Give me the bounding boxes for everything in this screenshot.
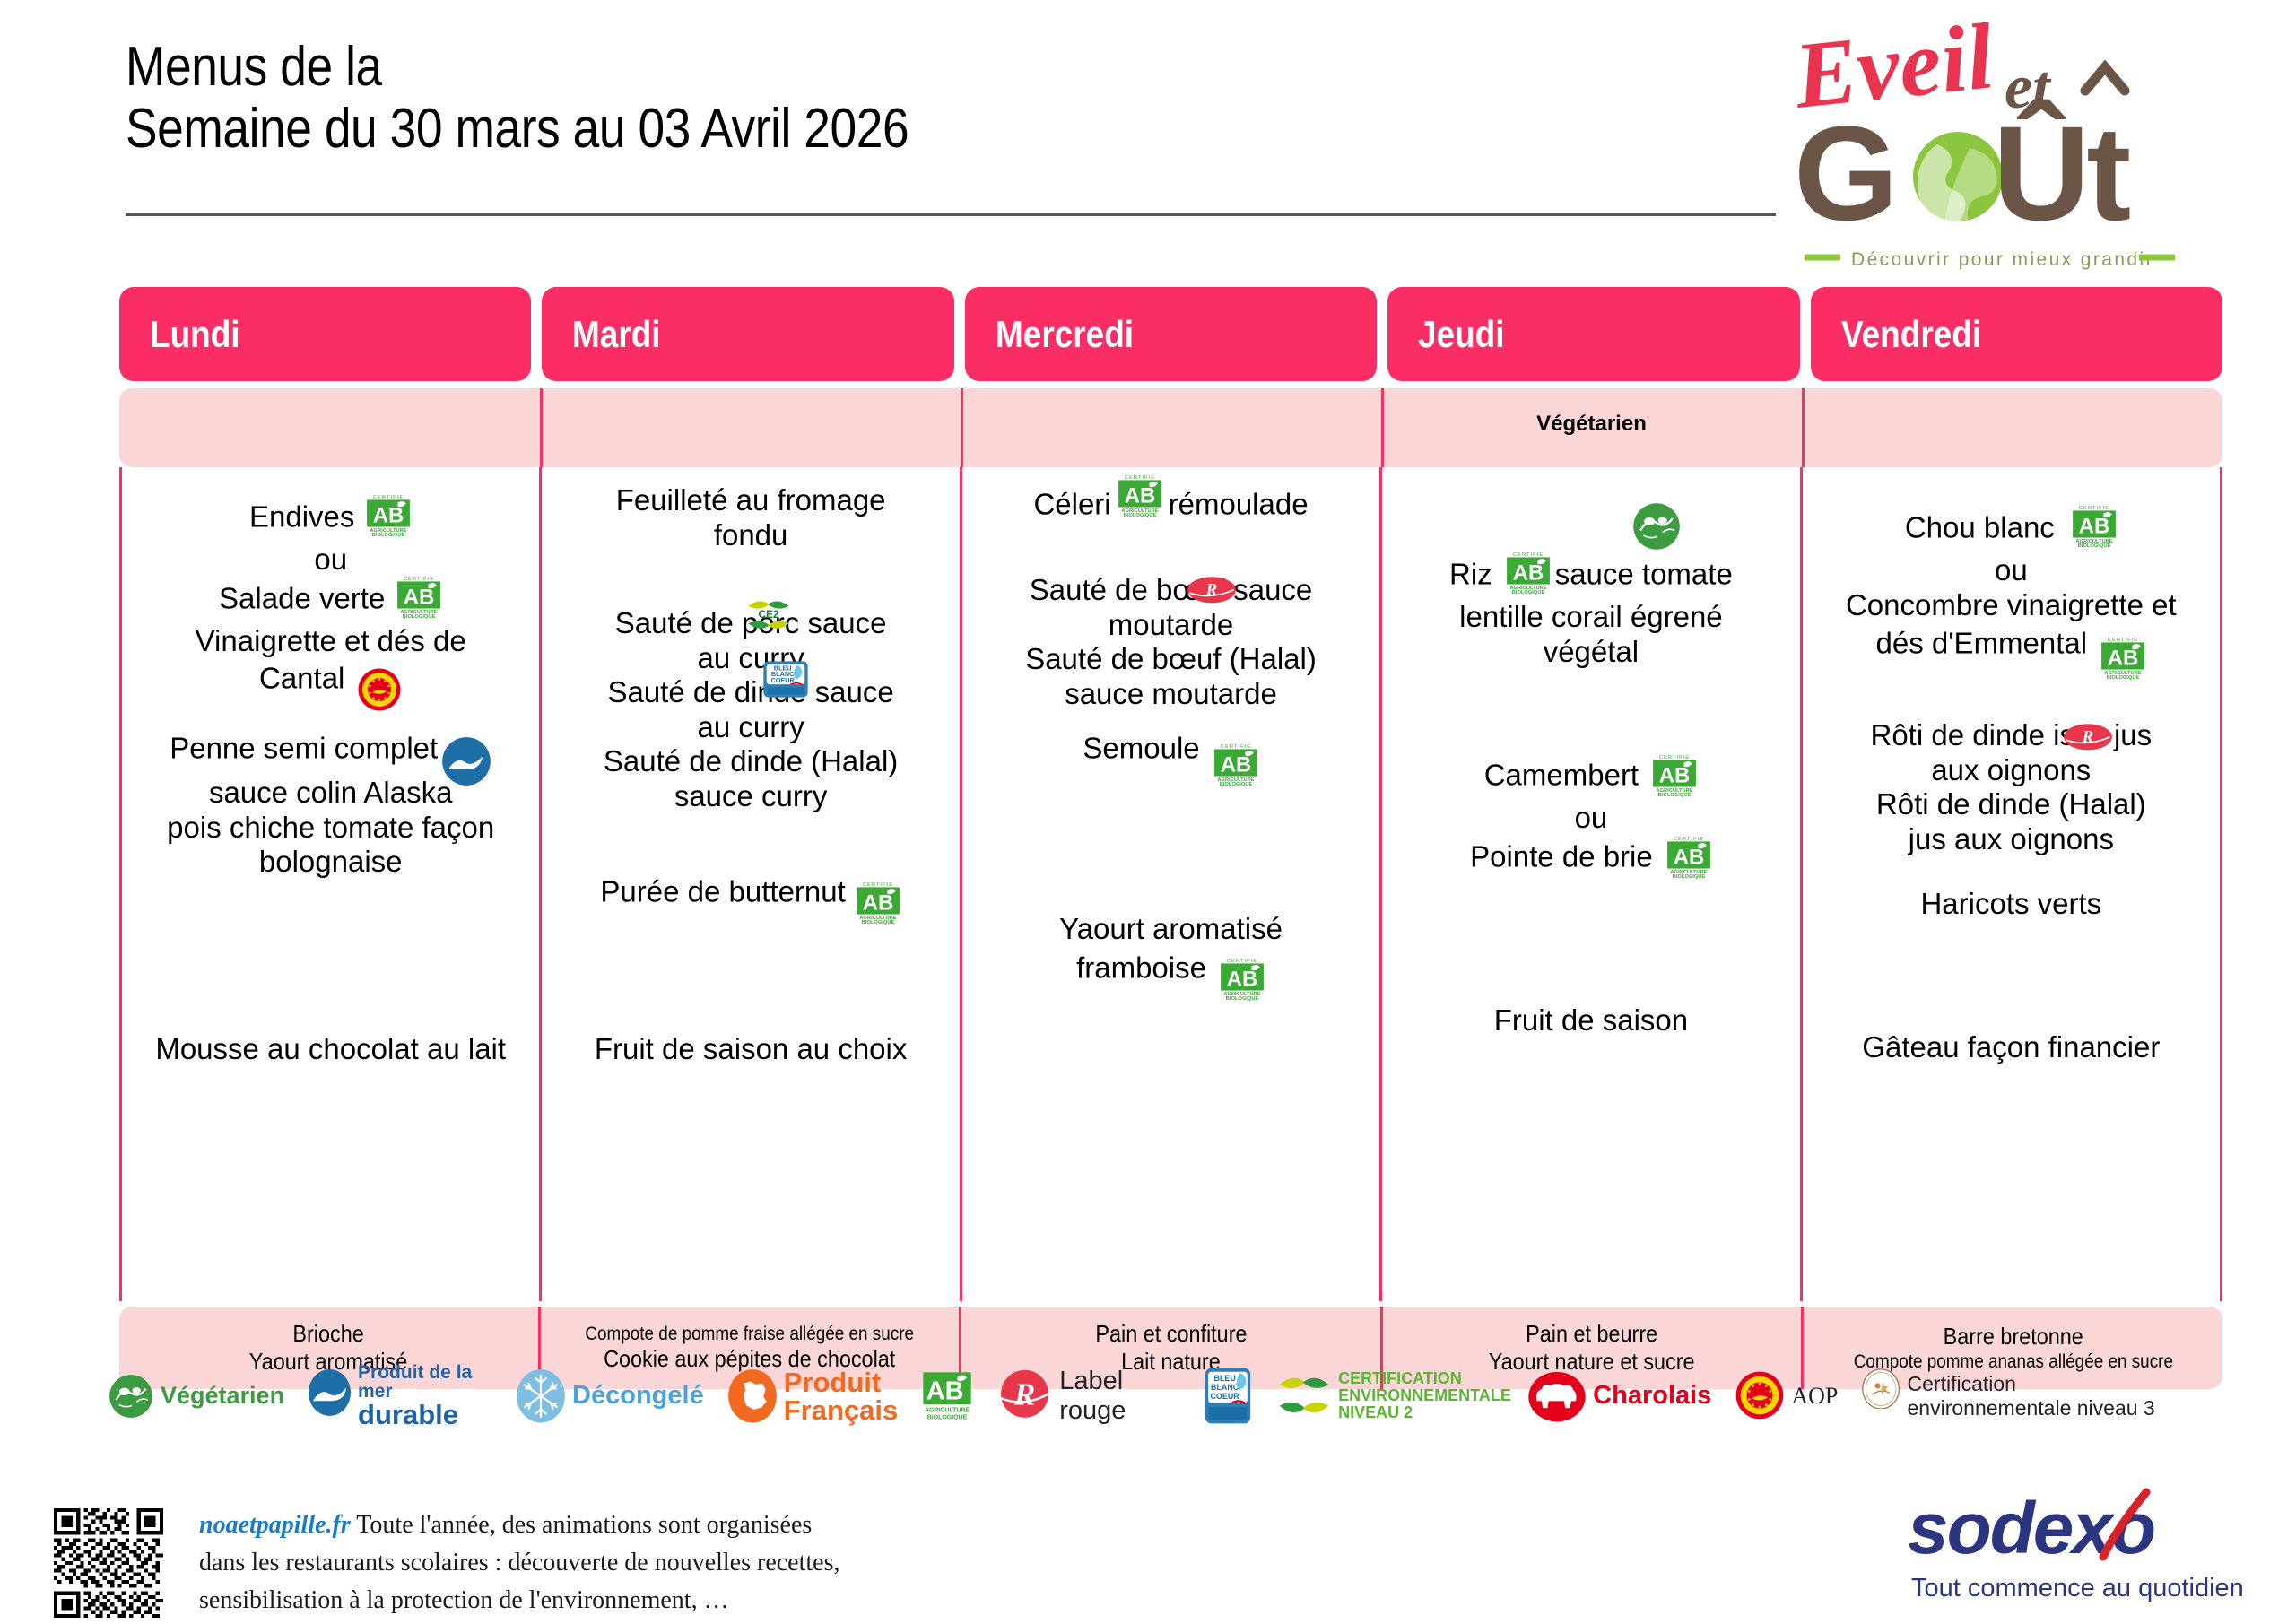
svg-text:AB: AB — [1124, 483, 1155, 508]
dish-dessert-mercredi: Yaourt aromatisé framboiseCERTIFIEABAGRI… — [966, 912, 1376, 994]
legend-label: Certification environnementale niveau 3 — [1908, 1372, 2174, 1420]
dish-line: jus aux oignons — [1909, 822, 2114, 855]
svg-text:AB: AB — [1659, 763, 1691, 787]
dish-garniture-vendredi: Haricots verts — [1806, 887, 2216, 922]
label-rouge-icon: R — [1187, 575, 1237, 605]
legend-label: Français — [784, 1396, 899, 1424]
msc-icon — [441, 736, 491, 786]
legend-item-bleu-blanc-coeur: BLEUBLANCCOEUR — [1203, 1366, 1253, 1427]
dish-fromage-jeudi: CamembertCERTIFIEABAGRICULTUREBIOLOGIQUE… — [1386, 754, 1796, 882]
dish-line: Salade verte — [219, 581, 385, 614]
svg-text:BIOLOGIQUE: BIOLOGIQUE — [372, 533, 405, 537]
menu-column-jeudi: RizCERTIFIEABAGRICULTUREBIOLOGIQUEsauce … — [1382, 467, 1802, 1301]
day-label: Vendredi — [1841, 313, 1981, 356]
msc-icon — [308, 1368, 352, 1424]
snack-line: Pain et confiture — [1095, 1320, 1247, 1348]
day-label: Mercredi — [996, 313, 1134, 356]
legend-item-he-niveau-3: Certification environnementale niveau 3 — [1861, 1368, 2174, 1424]
day-header-vendredi[interactable]: Vendredi — [1811, 287, 2222, 381]
dish-plat-vendredi: Rôti de dinde issu jusR aux oignons Rôti… — [1806, 718, 2216, 856]
dish-dessert-mardi: Fruit de saison au choix — [545, 1032, 955, 1067]
sodexo-logo: sodexo Tout commence au quotidien — [1906, 1487, 2256, 1612]
day-label: Jeudi — [1418, 313, 1505, 356]
svg-text:BIOLOGIQUE: BIOLOGIQUE — [1219, 782, 1252, 786]
label-rouge-icon: R — [996, 1368, 1053, 1424]
dish-dessert-vendredi: Gâteau façon financier — [1806, 1030, 2216, 1065]
menu-body: EndivesCERTIFIEABAGRICULTUREBIOLOGIQUE o… — [119, 467, 2222, 1301]
ab-icon: CERTIFIEABAGRICULTUREBIOLOGIQUE — [365, 491, 412, 537]
produit-francais-icon — [727, 1368, 778, 1424]
svg-text:AB: AB — [1673, 845, 1704, 869]
svg-text:BIOLOGIQUE: BIOLOGIQUE — [1123, 513, 1156, 517]
svg-text:AB: AB — [404, 585, 435, 609]
dish-dessert-jeudi: Fruit de saison — [1386, 1003, 1796, 1038]
ab-icon: CERTIFIEABAGRICULTUREBIOLOGIQUE — [1117, 471, 1163, 517]
menu-column-mercredi: CéleriCERTIFIEABAGRICULTUREBIOLOGIQUErém… — [962, 467, 1382, 1301]
dish-line: végétal — [1544, 635, 1639, 668]
ab-icon: CERTIFIEABAGRICULTUREBIOLOGIQUE — [396, 572, 442, 619]
svg-text:AB: AB — [1512, 560, 1544, 585]
svg-text:CERTIFIE: CERTIFIE — [1221, 744, 1251, 750]
dish-plat-lundi: Penne semi complet sauce colin Alaska po… — [126, 725, 535, 880]
band-divider — [540, 388, 543, 467]
dish-dessert-lundi: Mousse au chocolat au lait — [126, 1032, 535, 1067]
svg-text:AB: AB — [863, 890, 894, 915]
bleu-blanc-coeur-icon: BLEUBLANCCOEUR — [761, 658, 811, 699]
svg-text:COEUR: COEUR — [1211, 1391, 1240, 1400]
legend-item-aop: AOP — [1735, 1370, 1838, 1422]
menu-column-vendredi: Chou blancCERTIFIEABAGRICULTUREBIOLOGIQU… — [1803, 467, 2222, 1301]
svg-text:BLEU: BLEU — [1214, 1373, 1236, 1382]
dish-line: Vinaigrette et dés de — [196, 624, 466, 657]
ab-icon: CERTIFIEABAGRICULTUREBIOLOGIQUE — [1505, 548, 1552, 595]
dish-line: Penne semi complet — [170, 732, 438, 765]
legend-item-decongele: Décongelé — [516, 1368, 704, 1424]
brand-tagline: Découvrir pour mieux grandir — [1851, 249, 2154, 270]
dish-line: Purée de butternut — [600, 875, 845, 908]
dish-line: sauce moutarde — [1065, 677, 1277, 710]
svg-text:CE2: CE2 — [759, 608, 779, 621]
svg-text:BIOLOGIQUE: BIOLOGIQUE — [2078, 543, 2111, 548]
svg-text:CERTIFIE: CERTIFIE — [1513, 552, 1544, 558]
vegetarian-label: Végétarien — [1381, 412, 1802, 437]
dish-line: sauce tomate — [1555, 558, 1733, 591]
dish-line: ou — [1995, 553, 2028, 586]
dish-line: sauce colin Alaska — [209, 776, 453, 809]
week-grid: Lundi Mardi Mercredi Jeudi Vendredi Végé… — [119, 287, 2222, 1389]
dish-line: Concombre vinaigrette et — [1846, 588, 2177, 621]
dish-line: ou — [1575, 801, 1608, 834]
day-header-jeudi[interactable]: Jeudi — [1387, 287, 1799, 381]
ab-icon: CERTIFIEABAGRICULTUREBIOLOGIQUE — [1213, 740, 1259, 786]
legend-label-top: Produit — [784, 1368, 899, 1396]
vegetarian-banner: Végétarien — [119, 388, 2222, 467]
dish-entree-vendredi: Chou blancCERTIFIEABAGRICULTUREBIOLOGIQU… — [1806, 507, 2216, 669]
sodexo-tagline: Tout commence au quotidien — [1911, 1574, 2244, 1602]
decongele-icon — [516, 1368, 566, 1424]
svg-text:AB: AB — [373, 503, 404, 527]
dish-line: Feuilleté au fromage — [616, 483, 886, 517]
ab-icon: CERTIFIEABAGRICULTUREBIOLOGIQUE — [1651, 751, 1698, 797]
dish-line: moutarde — [1109, 608, 1233, 641]
svg-text:CERTIFIE: CERTIFIE — [1674, 836, 1704, 841]
svg-text:AB: AB — [1220, 752, 1251, 777]
svg-text:AGRICULTURE: AGRICULTURE — [925, 1407, 970, 1413]
legend-label: Végétarien — [161, 1382, 284, 1410]
ab-icon: CERTIFIEABAGRICULTUREBIOLOGIQUE — [2100, 633, 2146, 680]
dish-line: Céleri — [1033, 488, 1110, 521]
svg-text:AB: AB — [2079, 514, 2110, 538]
day-header-row: Lundi Mardi Mercredi Jeudi Vendredi — [119, 287, 2222, 381]
title-underline — [126, 213, 1776, 216]
dish-line: Sauté de bœuf (Halal) — [1025, 642, 1317, 675]
dish-line: Camembert — [1484, 759, 1639, 792]
dish-line: Mousse au chocolat au lait — [155, 1032, 506, 1065]
legend-label: CERTIFICATION ENVIRONNEMENTALE NIVEAU 2 — [1338, 1370, 1504, 1421]
ab-icon: CERTIFIEABAGRICULTUREBIOLOGIQUE — [1219, 954, 1265, 1001]
label-rouge-icon: R — [2063, 722, 2113, 752]
svg-text:CERTIFIE: CERTIFIE — [1659, 755, 1690, 760]
ab-icon: ABAGRICULTUREBIOLOGIQUE — [921, 1370, 973, 1422]
dish-line: Endives — [249, 500, 354, 534]
dish-line: Gâteau façon financier — [1862, 1030, 2160, 1064]
ab-icon: CERTIFIEABAGRICULTUREBIOLOGIQUE — [1665, 832, 1712, 879]
dish-line: rémoulade — [1169, 488, 1309, 521]
charolais-icon — [1527, 1370, 1587, 1422]
dish-line: sauce curry — [674, 779, 828, 812]
svg-text:COEUR: COEUR — [771, 676, 796, 684]
svg-text:BIOLOGIQUE: BIOLOGIQUE — [1658, 793, 1692, 797]
aop-icon — [1735, 1370, 1785, 1422]
menu-column-lundi: EndivesCERTIFIEABAGRICULTUREBIOLOGIQUE o… — [119, 467, 542, 1301]
svg-text:CERTIFIE: CERTIFIE — [1125, 475, 1155, 481]
dish-line: Fruit de saison — [1494, 1003, 1688, 1037]
snack-line: Pain et beurre — [1526, 1320, 1658, 1348]
svg-text:CERTIFIE: CERTIFIE — [404, 576, 434, 581]
dish-garniture-mardi: Purée de butternutCERTIFIEABAGRICULTUREB… — [545, 871, 955, 917]
legend-label: durable — [358, 1401, 492, 1429]
dish-plat-mercredi: Sauté de bœuf sauceR moutarde Sauté de b… — [966, 573, 1376, 711]
dish-line: Haricots verts — [1920, 887, 2101, 920]
snack-line: Brioche — [293, 1320, 364, 1348]
legend-item-label-rouge: R Label rouge — [996, 1367, 1179, 1426]
certification-env-n2-icon: CE2 — [744, 595, 793, 633]
dish-line: fondu — [714, 518, 788, 551]
svg-text:BIOLOGIQUE: BIOLOGIQUE — [1511, 590, 1544, 595]
svg-text:R: R — [2081, 727, 2093, 746]
footer-line-3: sensibilisation à la protection de l'env… — [199, 1586, 729, 1614]
footer-line-1: Toute l'année, des animations sont organ… — [351, 1511, 813, 1539]
dish-plat-mardi: Sauté de porc sauceCE2 au curry Sauté de… — [545, 606, 955, 814]
svg-text:BLANC: BLANC — [1211, 1382, 1239, 1391]
vegetarien-icon — [1631, 501, 1682, 551]
svg-text:CERTIFIE: CERTIFIE — [1227, 958, 1257, 963]
legend-item-produit-francais: Produit Français — [727, 1368, 899, 1424]
dish-line: Riz — [1449, 558, 1492, 591]
title-line-2: Semaine du 30 mars au 03 Avril 2026 — [126, 98, 1552, 160]
legend-label: Label rouge — [1059, 1367, 1179, 1426]
svg-text:BIOLOGIQUE: BIOLOGIQUE — [927, 1414, 968, 1420]
day-header-lundi[interactable]: Lundi — [119, 287, 531, 381]
menu-column-mardi: Feuilleté au fromage fondu Sauté de porc… — [542, 467, 961, 1301]
ab-icon: CERTIFIEABAGRICULTUREBIOLOGIQUE — [855, 878, 901, 925]
certification-env-n2-icon — [1276, 1370, 1332, 1422]
dish-line: Pointe de brie — [1470, 839, 1653, 873]
ab-icon: CERTIFIEABAGRICULTUREBIOLOGIQUE — [2071, 501, 2118, 548]
legend-item-charolais: Charolais — [1527, 1370, 1711, 1422]
bleu-blanc-coeur-icon: BLEUBLANCCOEUR — [1203, 1366, 1253, 1427]
svg-text:G: G — [1794, 98, 1895, 248]
dish-line: bolognaise — [259, 845, 403, 878]
dish-line: Sauté de dinde sauce — [607, 675, 893, 708]
svg-text:AB: AB — [926, 1376, 964, 1405]
legend-item-vegetarien: Végétarien — [108, 1373, 284, 1420]
legend-row: Végétarien Produit de la mer durable Déc… — [108, 1363, 2197, 1429]
dish-line: Sauté de dinde (Halal) — [604, 744, 898, 777]
dish-line: Chou blanc — [1905, 511, 2055, 544]
he-n3-icon — [1861, 1368, 1900, 1424]
qr-code[interactable] — [54, 1508, 163, 1618]
legend-label: Décongelé — [572, 1381, 704, 1411]
dish-line: ou — [314, 543, 347, 576]
day-header-mercredi[interactable]: Mercredi — [965, 287, 1377, 381]
svg-text:AB: AB — [2108, 647, 2139, 671]
svg-text:CERTIFIE: CERTIFIE — [2108, 638, 2138, 643]
eveil-et-gout-logo: Eveil et G Ût Découvrir pour mieux grand… — [1794, 13, 2179, 305]
dish-line: dés d'Emmental — [1876, 627, 2088, 660]
snack-line: Compote de pomme fraise allégée en sucre — [586, 1323, 915, 1345]
footer-line-2: dans les restaurants scolaires : découve… — [199, 1549, 840, 1576]
dish-garniture-mercredi: SemouleCERTIFIEABAGRICULTUREBIOLOGIQUE — [966, 727, 1376, 774]
dish-line: Sauté de bœuf sauce — [1030, 573, 1313, 606]
svg-text:AB: AB — [1227, 967, 1258, 991]
day-label: Lundi — [150, 313, 240, 356]
snack-line: Barre bretonne — [1944, 1323, 2083, 1350]
page-title: Menus de la Semaine du 30 mars au 03 Avr… — [126, 36, 1785, 161]
dish-line: lentille corail égrené — [1459, 600, 1723, 633]
svg-text:R: R — [1013, 1376, 1036, 1411]
title-line-1: Menus de la — [126, 36, 1552, 98]
dish-line: Rôti de dinde (Halal) — [1876, 787, 2146, 821]
dish-entree-mercredi: CéleriCERTIFIEABAGRICULTUREBIOLOGIQUErém… — [966, 483, 1376, 530]
band-divider — [1802, 388, 1805, 467]
svg-text:BIOLOGIQUE: BIOLOGIQUE — [862, 920, 895, 925]
svg-text:CERTIFIE: CERTIFIE — [863, 882, 893, 888]
footer-site-link[interactable]: noaetpapille.fr — [199, 1511, 351, 1539]
band-divider — [961, 388, 963, 467]
legend-label-top: Produit de la mer — [358, 1363, 492, 1401]
day-label: Mardi — [572, 313, 661, 356]
dish-line: Semoule — [1083, 732, 1199, 765]
legend-item-certification-env-n2: CERTIFICATION ENVIRONNEMENTALE NIVEAU 2 — [1276, 1370, 1504, 1422]
dish-line: framboise — [1076, 951, 1206, 984]
svg-text:BIOLOGIQUE: BIOLOGIQUE — [403, 614, 436, 619]
dish-entree-mardi: Feuilleté au fromage fondu — [545, 483, 955, 552]
dish-entree-lundi: EndivesCERTIFIEABAGRICULTUREBIOLOGIQUE o… — [126, 496, 535, 703]
legend-label: Charolais — [1593, 1381, 1711, 1411]
footer-text: noaetpapille.fr Toute l'année, des anima… — [199, 1507, 1051, 1620]
day-header-mardi[interactable]: Mardi — [542, 287, 953, 381]
legend-label: AOP — [1791, 1383, 1838, 1410]
vegetarien-icon — [108, 1373, 154, 1420]
dish-line: au curry — [698, 710, 804, 743]
dish-line: Yaourt aromatisé — [1059, 912, 1283, 945]
svg-text:CERTIFIE: CERTIFIE — [2079, 506, 2109, 511]
svg-text:Ût: Ût — [1993, 98, 2130, 248]
dish-line: Cantal — [259, 662, 344, 695]
svg-text:BIOLOGIQUE: BIOLOGIQUE — [2107, 675, 2140, 680]
legend-item-ab: ABAGRICULTUREBIOLOGIQUE — [921, 1370, 973, 1422]
legend-item-msc: Produit de la mer durable — [308, 1363, 492, 1429]
dish-plat-jeudi: RizCERTIFIEABAGRICULTUREBIOLOGIQUEsauce … — [1386, 553, 1796, 669]
svg-text:CERTIFIE: CERTIFIE — [373, 495, 404, 500]
aop-icon — [357, 667, 402, 712]
svg-text:BIOLOGIQUE: BIOLOGIQUE — [1672, 874, 1705, 879]
menu-poster: Menus de la Semaine du 30 mars au 03 Avr… — [0, 0, 2296, 1624]
svg-text:R: R — [1205, 580, 1217, 599]
dish-line: aux oignons — [1931, 753, 2091, 786]
dish-line: Fruit de saison au choix — [595, 1032, 908, 1065]
dish-line: pois chiche tomate façon — [167, 811, 494, 844]
svg-text:BIOLOGIQUE: BIOLOGIQUE — [1226, 996, 1259, 1001]
